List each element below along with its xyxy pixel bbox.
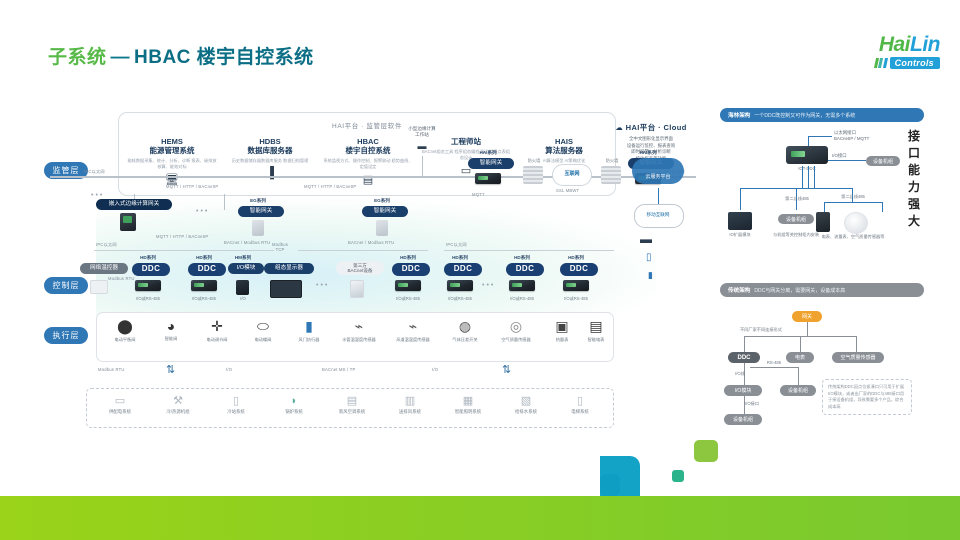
bottom-green-bar — [0, 496, 960, 540]
exec-device-10[interactable]: ▤ 智能电表 — [579, 318, 613, 343]
gateway-series-4: EG系列 — [362, 198, 402, 204]
controller-label-0: 网络温控器 — [90, 265, 118, 272]
controller-pill-8[interactable]: DDC — [506, 263, 544, 276]
exec-device-label-7: 气体压差开关 — [441, 337, 489, 343]
branch-trunk-2 — [808, 166, 809, 188]
edge-workstation[interactable]: 小型边缘计算 工作站 ▬ — [396, 126, 448, 151]
deco-block-teal-small — [600, 474, 620, 496]
phone-client-icon: ▮ — [648, 270, 653, 281]
ddc-box-label: DDC — [738, 355, 751, 361]
io-expansion-hardware — [728, 212, 752, 230]
exec-device-label-1: 智能阀 — [149, 336, 193, 342]
slide-root: 子系统—HBAC 楼宇自控系统 HaiLin Controls 监管层 控制层 … — [0, 0, 960, 540]
hmi-display-hardware — [270, 280, 302, 298]
bidirectional-arrow-2: ⇅ — [502, 363, 511, 376]
hai-cloud-block: ☁ HAI平台 · Cloud 全中文图形化显示界面 设备运行监控、报表查询 即… — [596, 122, 706, 162]
gw-d3 — [856, 336, 857, 352]
controller-pill-3[interactable]: I/O模块 — [228, 263, 264, 274]
unit-box-2[interactable]: 设备机组 — [724, 414, 762, 425]
deco-block-green-large — [694, 440, 718, 462]
hems-name: 能源管理系统 — [127, 146, 217, 155]
logo-wordmark: HaiLin — [822, 34, 940, 55]
layer-tag-control: 控制层 — [44, 277, 88, 294]
controller-pill-5[interactable]: 第三方 BACnet设备 — [336, 261, 384, 275]
ellipsis-1: ••• — [196, 208, 209, 215]
system-label-1: 冷/热源机组 — [149, 409, 207, 415]
controller-label-9: DDC — [570, 266, 589, 273]
proto-label-bacnet-2: BACnet / Modbus RTU — [348, 240, 394, 245]
io-expansion-label: IO扩展模块 — [716, 232, 764, 238]
fieldbus-left — [94, 250, 274, 251]
controller-cap-9: I/O或RS-485 — [560, 296, 592, 302]
controller-cap-1: I/O或RS-485 — [132, 296, 164, 302]
controller-series-7: HD系列 — [444, 255, 476, 261]
branch-right-h — [824, 202, 882, 203]
exec-device-8[interactable]: ◎ 空气质量传感器 — [491, 318, 541, 343]
exec-device-4[interactable]: ▮ 风门执行器 — [287, 318, 331, 343]
architecture-diagram: 监管层 控制层 执行层 HAI平台 · 监管层软件 HEMS 能源管理系统 能耗… — [36, 100, 696, 440]
fieldbus-right — [444, 250, 614, 251]
ddc-hardware-6 — [395, 280, 421, 291]
exec-device-6[interactable]: ⌁ 风道温湿度传感器 — [387, 318, 439, 343]
drop-line-3 — [422, 156, 423, 176]
hailin-arch-badge-title: 海林架构 — [728, 111, 750, 119]
title-prefix: 子系统 — [48, 47, 107, 68]
branch-right-d1 — [824, 202, 825, 212]
hdbs-code: HDBS — [225, 137, 315, 146]
cloud-service-label: 云服务平台 — [632, 173, 684, 180]
logo-bars-icon — [875, 58, 887, 68]
controller-label-4: 组态显示器 — [275, 265, 303, 272]
system-label-0: 供配电系统 — [91, 409, 149, 415]
ellipsis-2: ••• — [91, 192, 104, 199]
lighting-icon: ▦ — [439, 394, 497, 407]
gateway-series-3: HAI系列 — [628, 150, 668, 156]
system-item-5[interactable]: ▥ 送排风系统 — [381, 394, 439, 415]
unit-box-1-label: 设备机组 — [788, 387, 808, 394]
eth-port-line-v — [808, 136, 809, 146]
title-main: HBAC 楼宇自控系统 — [134, 47, 314, 68]
ddc-hardware-1 — [135, 280, 161, 291]
exec-device-9[interactable]: ▣ 热量表 — [545, 318, 579, 343]
systems-card: ▭ 供配电系统 ⚒ 冷/热源机组 ▯ 冷站系统 ◗ 锅炉系统 ▤ 新风空调系统 … — [86, 388, 614, 428]
title-dash: — — [107, 47, 135, 68]
meter-box-label: 电表 — [795, 354, 805, 361]
gateway-label-1: 智能网关 — [480, 160, 502, 167]
gw-d1 — [744, 336, 745, 352]
bidirectional-arrow-1: ⇅ — [166, 363, 175, 376]
gateway-box[interactable]: 网关 — [792, 311, 822, 322]
ddc-hardware-8 — [509, 280, 535, 291]
gateway-series-1: HAI系列 — [468, 150, 508, 156]
io-module-box[interactable]: I/O模块 — [724, 385, 762, 396]
unit-box-top-label: 设备机组 — [873, 158, 893, 165]
unit-box-mid-label: 设备机组 — [786, 216, 806, 223]
system-label-8: 电梯系统 — [551, 409, 609, 415]
branch-right-d2 — [882, 202, 883, 212]
hailin-logo: HaiLin Controls — [822, 34, 940, 78]
system-item-0[interactable]: ▭ 供配电系统 — [91, 394, 149, 415]
cloud-down-line — [658, 188, 659, 204]
cloud-glyph-icon: ☁ — [615, 123, 623, 132]
system-label-5: 送排风系统 — [381, 409, 439, 415]
pipe-sensor-icon: ⌁ — [333, 318, 385, 335]
edge-workstation-label: 小型边缘计算 工作站 — [396, 126, 448, 138]
modbus-tcp-label: Modbus TCP — [272, 242, 288, 252]
elevator-icon: ▯ — [551, 394, 609, 407]
mqtt-label-1: MQTT — [472, 192, 485, 197]
meter-hardware — [816, 212, 830, 232]
hdbs-desc: 历史数据储存器数据库服务 数据归档管理 — [225, 158, 315, 164]
tablet-client-icon: ▯ — [646, 252, 652, 263]
firewall-label-1: 防火墙 — [518, 158, 550, 164]
ssl-label: SSL MBWT — [556, 188, 579, 193]
management-col-hdbs[interactable]: HDBS 数据库服务器 历史数据储存器数据库服务 数据归档管理 ▐ — [225, 137, 315, 179]
third-party-hardware — [350, 280, 364, 298]
air-quality-sensor-hardware — [844, 212, 868, 234]
layer-tag-execution: 执行层 — [44, 327, 88, 344]
proto-label-top-1: MQTT / HTTP / BACnetIP — [166, 184, 218, 189]
eth-port-line-h — [808, 136, 832, 137]
gateway-series-2: EG系列 — [238, 198, 278, 204]
page-title: 子系统—HBAC 楼宇自控系统 — [48, 42, 314, 69]
traditional-note: 传统架构DDC因点位紧凑口只可用于扩展I/O模块，或者出厂家的DDC与485接口… — [822, 379, 912, 415]
drop-line-2 — [224, 194, 225, 210]
branch-trunk-3 — [814, 166, 815, 188]
butterfly-valve-icon: ⬭ — [241, 318, 285, 335]
controller-pill-4[interactable]: 组态显示器 — [264, 263, 314, 274]
hems-code: HEMS — [127, 137, 217, 146]
ddc-485-h — [750, 367, 798, 368]
exec-device-label-8: 空气质量传感器 — [491, 337, 541, 343]
controller-label-2: DDC — [198, 266, 217, 273]
line-io2-label: I/O接口 — [732, 401, 772, 407]
controller-pill-1[interactable]: DDC — [132, 263, 170, 276]
proto-io-2: I/O — [432, 367, 438, 372]
branch-trunk-1 — [802, 166, 803, 188]
eth-port-label: 以太网接口 BACnetIP / MQTT — [834, 130, 869, 142]
exec-device-1[interactable]: ◕ 智能阀 — [149, 318, 193, 342]
controller-series-6: HD系列 — [392, 255, 424, 261]
line-485-label: RS-485 — [756, 360, 792, 365]
system-label-4: 新风空调系统 — [323, 409, 381, 415]
mobile-internet-label: 移动互联网 — [634, 212, 682, 218]
layer-label-supervision: 监管层 — [53, 165, 80, 176]
controller-label-5: 第三方 BACnet设备 — [347, 263, 372, 274]
duct-sensor-icon: ⌁ — [387, 318, 439, 335]
gateway-note: 不同厂家不同连接形式 — [740, 327, 816, 333]
ahu-icon: ▤ — [323, 394, 381, 407]
smart-valve-icon: ◕ — [149, 318, 193, 334]
supervision-bus-line — [50, 176, 696, 178]
gateway-hardware-1 — [475, 173, 501, 184]
aq-box[interactable]: 空气质量传感器 — [832, 352, 884, 363]
controller-series-3: HM系列 — [228, 255, 258, 261]
ddc-hardware-9 — [563, 280, 589, 291]
gateway-pill-1[interactable]: 智能网关 — [468, 158, 514, 169]
ellipsis-3: ••• — [316, 282, 329, 289]
exec-device-label-3: 电动蝶阀 — [241, 337, 285, 343]
power-distribution-icon: ▭ — [91, 394, 149, 407]
traditional-arch-badge-title: 传统架构 — [728, 286, 750, 294]
boiler-icon: ◗ — [265, 394, 323, 407]
exec-device-label-10: 智能电表 — [579, 337, 613, 343]
deco-block-green-small — [672, 470, 684, 482]
io-port-line — [828, 160, 866, 161]
ellipsis-4: ••• — [482, 282, 495, 289]
controller-pill-9[interactable]: DDC — [560, 263, 598, 276]
thermostat-icon — [90, 280, 108, 294]
controller-cap-8: I/O或RS-485 — [506, 296, 538, 302]
controller-cap-3: I/O — [228, 296, 258, 301]
gw-d2 — [800, 336, 801, 352]
fieldbus-label-right: IPC以太网 — [446, 242, 467, 248]
gateway-label-2: 智能网关 — [250, 208, 272, 215]
right-panel-traditional-architecture: 传统架构 DDC与网关分离，需要网关，设备成本高 网关 不同厂家不同连接形式 D… — [716, 283, 930, 443]
layer-label-execution: 执行层 — [53, 330, 80, 341]
system-label-2: 冷站系统 — [207, 409, 265, 415]
exec-device-label-2: 电动调节阀 — [195, 337, 239, 343]
internet-cloud-icon: 互联网 — [552, 164, 592, 186]
controller-series-9: HD系列 — [560, 255, 592, 261]
power-meter-icon: ▤ — [579, 318, 613, 335]
hdbs-name: 数据库服务器 — [225, 146, 315, 155]
controller-label-8: DDC — [516, 266, 535, 273]
bus2-label: 第二总线485 — [828, 194, 878, 200]
io-module-box-label: I/O模块 — [735, 387, 752, 394]
logo-controls-text: Controls — [890, 57, 940, 69]
system-label-7: 给排水系统 — [497, 409, 555, 415]
right-devices-caption: 电表、流量表、空气质量传感器等 — [808, 234, 898, 240]
exec-device-2[interactable]: ✛ 电动调节阀 — [195, 318, 239, 343]
bus-label-ipc-left: IPC以太网 — [84, 169, 105, 175]
controller-cap-7: I/O或RS-485 — [444, 296, 476, 302]
right-panel-hailin-architecture: 海林架构 一个DDC既控制又可作为网关，无需多个系统 IOT-DDC 以太网接口… — [716, 108, 930, 268]
chiller-icon: ⚒ — [149, 394, 207, 407]
io-module-hardware — [236, 280, 249, 295]
system-item-3[interactable]: ◗ 锅炉系统 — [265, 394, 323, 415]
layer-label-control: 控制层 — [53, 280, 80, 291]
hailin-arch-badge: 海林架构 一个DDC既控制又可作为网关，无需多个系统 — [720, 108, 924, 122]
vertical-slogan: 接 口 能 力 强 大 — [906, 128, 922, 230]
cold-station-icon: ▯ — [207, 394, 265, 407]
controller-label-1: DDC — [142, 266, 161, 273]
controller-pill-2[interactable]: DDC — [188, 263, 226, 276]
gateway-box-label: 网关 — [802, 313, 812, 320]
hai-cloud-title: ☁ HAI平台 · Cloud — [596, 122, 706, 133]
controller-cap-6: I/O或RS-485 — [392, 296, 424, 302]
traditional-arch-badge: 传统架构 DDC与网关分离，需要网关，设备成本高 — [720, 283, 924, 297]
firewall-label-2: 防火墙 — [596, 158, 628, 164]
system-label-6: 智能照明系统 — [439, 409, 497, 415]
management-col-hems[interactable]: HEMS 能源管理系统 能耗数据采集、统计、分析、诊断 报表、碳排放核算、能效对… — [127, 137, 217, 186]
gateway-pill-4[interactable]: 智能网关 — [362, 206, 408, 217]
exec-device-3[interactable]: ⬭ 电动蝶阀 — [241, 318, 285, 343]
valve-icon: ⬤ — [103, 318, 147, 335]
pressure-switch-icon: ◍ — [441, 318, 489, 335]
edge-gateway-label: 嵌入式边缘计算网关 — [109, 201, 159, 208]
edge-gateway-pill[interactable]: 嵌入式边缘计算网关 — [96, 199, 172, 210]
exec-device-label-5: 水管温湿度传感器 — [333, 337, 385, 343]
unit-box-2-label: 设备机组 — [733, 416, 753, 423]
fieldbus-mid — [298, 250, 428, 251]
exec-device-7[interactable]: ◍ 气体压差开关 — [441, 318, 489, 343]
water-icon: ▧ — [497, 394, 555, 407]
ddc-hardware-7 — [447, 280, 473, 291]
logo-lin: Lin — [910, 33, 940, 56]
laptop-client-icon: ▬ — [640, 232, 652, 246]
system-label-3: 锅炉系统 — [265, 409, 323, 415]
proto-label-bacnet-1: BACnet / Modbus RTU — [224, 240, 270, 245]
hbac-desc: 系统监视方式、操作控制、报警联动 趋势曲线、定值设定 — [323, 158, 413, 170]
system-item-7[interactable]: ▧ 给排水系统 — [497, 394, 555, 415]
fieldbus-label-left: IPC以太网 — [96, 242, 117, 248]
io-port-label: I/O接口 — [832, 153, 847, 159]
controller-pill-7[interactable]: DDC — [444, 263, 482, 276]
branch-down-left — [740, 188, 741, 210]
system-item-4[interactable]: ▤ 新风空调系统 — [323, 394, 381, 415]
cloud-service-platform[interactable]: 云服务平台 — [632, 158, 684, 184]
proto-modbus-rtu: Modbus RTU — [98, 367, 125, 372]
laptop-icon: ▬ — [396, 141, 448, 151]
gateway-hardware-4 — [376, 220, 388, 236]
exec-device-label-0: 电动平衡阀 — [103, 337, 147, 343]
controller-series-8: HD系列 — [506, 255, 538, 261]
controller-series-1: HD系列 — [132, 255, 164, 261]
heat-meter-icon: ▣ — [545, 318, 579, 335]
control-valve-icon: ✛ — [195, 318, 239, 335]
exec-device-label-6: 风道温湿度传感器 — [387, 337, 439, 343]
ddc-hardware-2 — [191, 280, 217, 291]
controller-pill-6[interactable]: DDC — [392, 263, 430, 276]
gateway-hardware-2 — [252, 220, 264, 236]
execution-layer-card: ⬤ 电动平衡阀 ◕ 智能阀 ✛ 电动调节阀 ⬭ 电动蝶阀 ▮ 风门执行器 ⌁ 水… — [96, 312, 614, 362]
edge-gateway-hardware — [120, 213, 136, 231]
controller-pill-0[interactable]: 网络温控器 — [80, 263, 128, 274]
iot-ddc-label: IOT-DDC — [782, 166, 832, 171]
firewall-icon-2 — [601, 166, 621, 184]
thermostat-proto: Modbus RTU — [108, 276, 135, 281]
controller-series-2: HD系列 — [188, 255, 220, 261]
hailin-arch-badge-desc: 一个DDC既控制又可作为网关，无需多个系统 — [754, 112, 855, 119]
unit-box-1[interactable]: 设备机组 — [780, 385, 816, 396]
exec-device-label-9: 热量表 — [545, 337, 579, 343]
fan-icon: ▥ — [381, 394, 439, 407]
system-item-8[interactable]: ▯ 电梯系统 — [551, 394, 609, 415]
management-card-header: HAI平台 · 监管层软件 — [119, 120, 615, 130]
aq-box-label: 空气质量传感器 — [840, 354, 875, 361]
gateway-pill-2[interactable]: 智能网关 — [238, 206, 284, 217]
bus1-label: 第二总线485 — [772, 196, 822, 202]
exec-device-0[interactable]: ⬤ 电动平衡阀 — [103, 318, 147, 343]
line-io-label: I/O线 — [724, 371, 756, 377]
controller-label-3: I/O模块 — [237, 265, 256, 272]
exec-device-5[interactable]: ⌁ 水管温湿度传感器 — [333, 318, 385, 343]
system-item-2[interactable]: ▯ 冷站系统 — [207, 394, 265, 415]
controller-label-6: DDC — [402, 266, 421, 273]
controller-cap-2: I/O或RS-485 — [188, 296, 220, 302]
unit-box-top[interactable]: 设备机组 — [866, 156, 900, 166]
firewall-icon-1 — [523, 166, 543, 184]
internet-label: 互联网 — [552, 170, 592, 177]
controller-label-7: DDC — [454, 266, 473, 273]
exec-device-label-4: 风门执行器 — [287, 337, 331, 343]
system-item-6[interactable]: ▦ 智能照明系统 — [439, 394, 497, 415]
gateway-label-4: 智能网关 — [374, 208, 396, 215]
ddc-485-d — [798, 367, 799, 385]
proto-label-top-2: MQTT / HTTP / BACnetIP — [156, 234, 208, 239]
proto-bacnet-mstp: BACnet MS / TP — [322, 367, 355, 372]
logo-subline: Controls — [822, 57, 940, 69]
proto-label-top-3: MQTT / HTTP / BACnetIP — [304, 184, 356, 189]
unit-box-mid[interactable]: 设备机组 — [778, 214, 814, 224]
traditional-arch-badge-desc: DDC与网关分离，需要网关，设备成本高 — [754, 287, 845, 294]
iot-ddc-hardware — [786, 146, 828, 164]
damper-actuator-icon: ▮ — [287, 318, 331, 335]
logo-hai: Hai — [879, 33, 910, 56]
system-item-1[interactable]: ⚒ 冷/热源机组 — [149, 394, 207, 415]
hems-desc: 能耗数据采集、统计、分析、诊断 报表、碳排放核算、能效对标 — [127, 158, 217, 170]
proto-io-1: I/O — [226, 367, 232, 372]
air-quality-icon: ◎ — [491, 318, 541, 335]
hai-cloud-title-text: HAI平台 · Cloud — [626, 123, 687, 132]
